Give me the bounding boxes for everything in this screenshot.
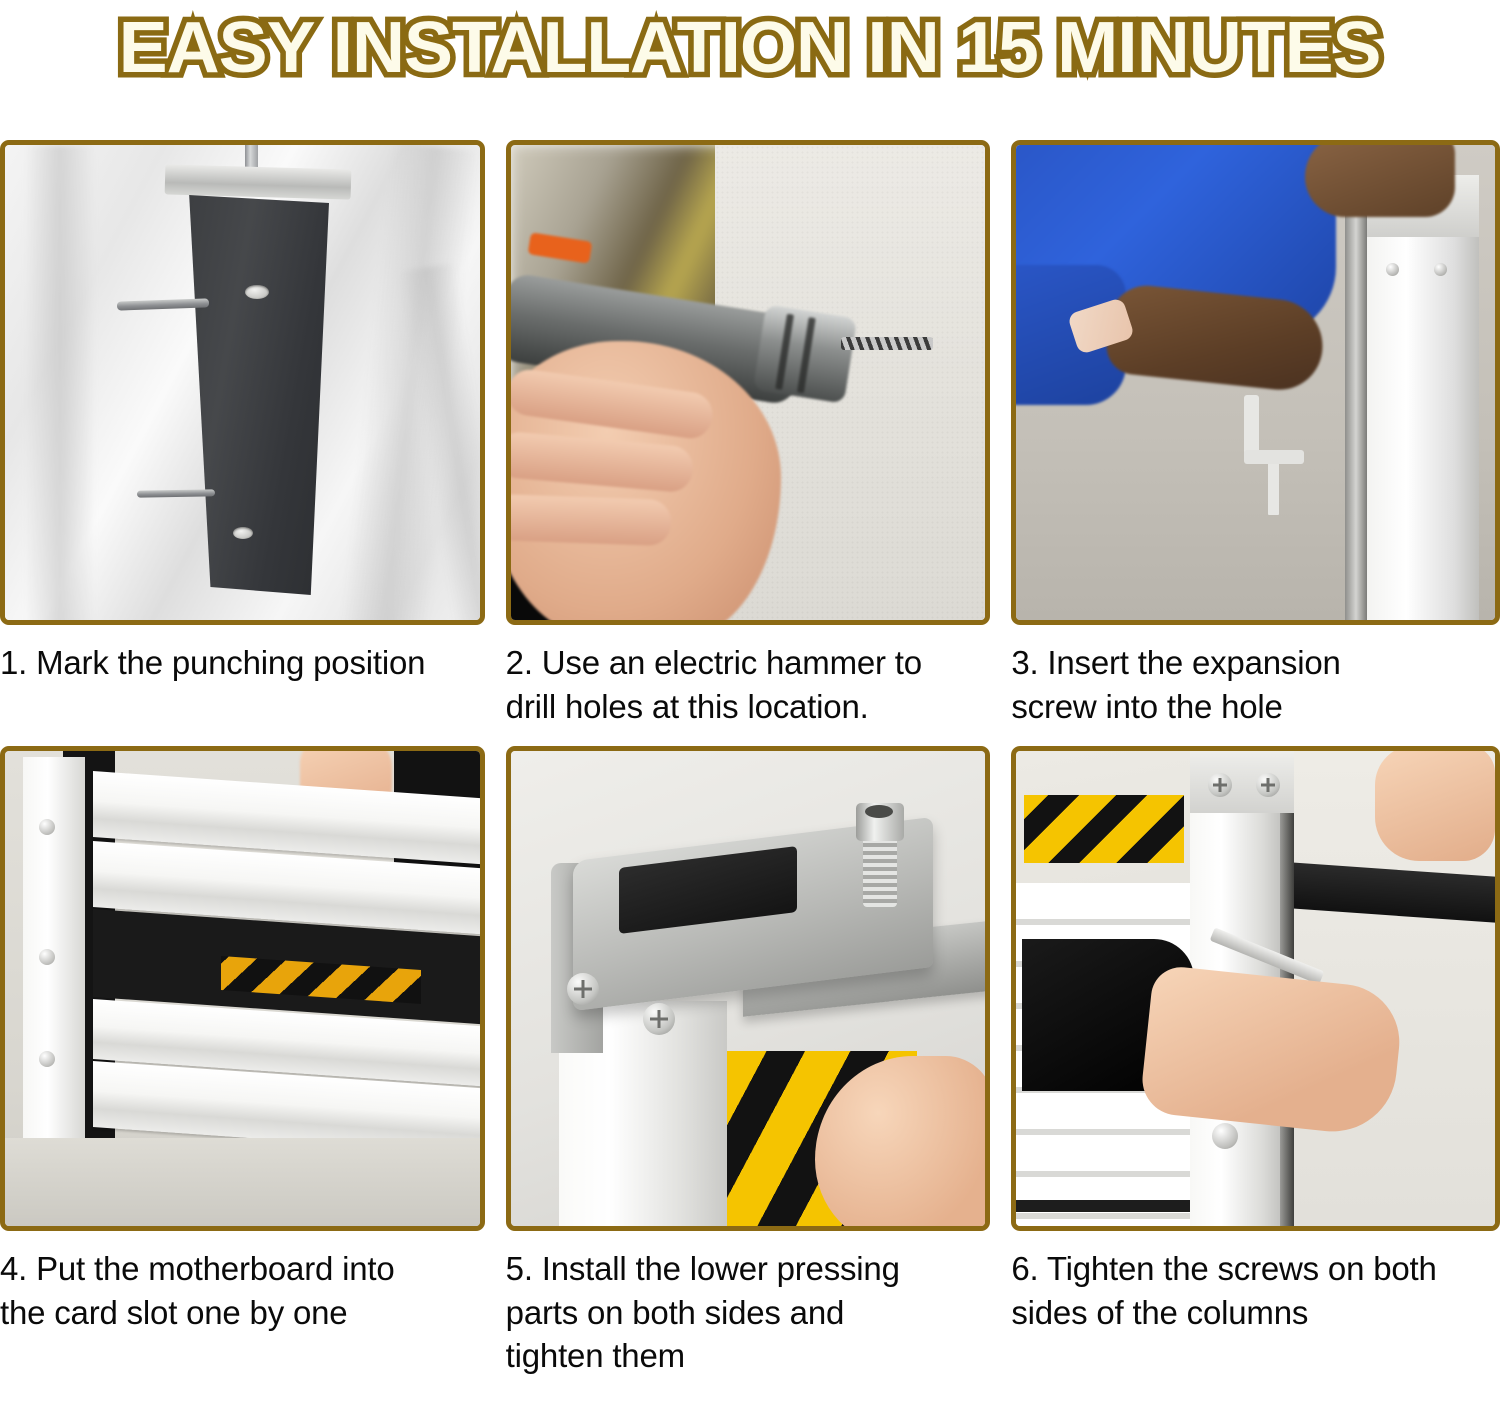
step-card-5: 5. Install the lower pressing parts on b… [506,746,991,1378]
phillips-screw [643,1003,675,1035]
bolt-socket [865,805,893,818]
step-caption-5: 5. Install the lower pressing parts on b… [506,1247,991,1378]
finger [511,494,672,546]
threaded-bolt [863,831,897,907]
bracket-cap [165,164,352,199]
caption-line: 5. Install the lower pressing [506,1247,985,1291]
page-title-bar: EASY INSTALLATION IN 15 MINUTES [0,0,1500,96]
step-photo-frame-6 [1011,746,1500,1231]
screw [39,819,55,835]
caption-line: 6. Tighten the screws on both [1011,1247,1494,1291]
caption-line: 4. Put the motherboard into [0,1247,479,1291]
page-title: EASY INSTALLATION IN 15 MINUTES [119,12,1381,84]
screw [1434,263,1447,276]
caption-line: tighten them [506,1334,985,1378]
white-column [1367,175,1479,620]
bracket-hole [245,285,269,299]
step-caption-3: 3. Insert the expansion screw into the h… [1011,641,1500,728]
step-caption-4: 4. Put the motherboard into the card slo… [0,1247,485,1334]
screw [39,1051,55,1067]
upper-hand [1305,145,1455,217]
finger [511,367,715,441]
hand [1139,964,1405,1138]
hazard-tape [1024,795,1184,863]
step-caption-1: 1. Mark the punching position [0,641,485,685]
floor-shadow-bar [1016,1200,1194,1212]
step-photo-6 [1016,751,1495,1226]
step-photo-frame-5 [506,746,991,1231]
step-card-2: 2. Use an electric hammer to drill holes… [506,140,991,728]
drill-chuck [753,304,857,403]
allen-key [1244,395,1259,457]
caption-line: drill holes at this location. [506,685,985,729]
phillips-screw [567,973,599,1005]
upper-hand [1375,751,1495,861]
caption-line: the card slot one by one [0,1291,479,1335]
caption-line: parts on both sides and [506,1291,985,1335]
step-caption-2: 2. Use an electric hammer to drill holes… [506,641,991,728]
step-photo-frame-3 [1011,140,1500,625]
allen-key-arm [1244,450,1304,464]
screw [1386,263,1399,276]
installation-guide-sheet: EASY INSTALLATION IN 15 MINUTES [0,0,1500,1403]
step-photo-frame-4 [0,746,485,1231]
step-card-1: 1. Mark the punching position [0,140,485,728]
drill-bit [841,337,933,350]
cloth-fold [25,145,95,620]
floor [5,1138,480,1226]
caption-line: 2. Use an electric hammer to [506,641,985,685]
caption-line: 3. Insert the expansion [1011,641,1494,685]
step-photo-4 [5,751,480,1226]
caption-line: screw into the hole [1011,685,1494,729]
column-edge [1345,175,1367,620]
caption-line: sides of the columns [1011,1291,1494,1335]
step-photo-3 [1016,145,1495,620]
step-card-3: 3. Insert the expansion screw into the h… [1011,140,1500,728]
step-card-4: 4. Put the motherboard into the card slo… [0,746,485,1378]
step-photo-5 [511,751,986,1226]
step-card-6: 6. Tighten the screws on both sides of t… [1011,746,1500,1378]
chuck-ring [797,317,816,393]
bracket-hole [233,527,253,539]
steps-row-bottom: 4. Put the motherboard into the card slo… [0,746,1500,1378]
step-caption-6: 6. Tighten the screws on both sides of t… [1011,1247,1500,1334]
step-photo-2 [511,145,986,620]
finger [511,431,695,494]
step-photo-frame-2 [506,140,991,625]
step-photo-1 [5,145,480,620]
chuck-ring [775,314,794,390]
steps-row-top: 1. Mark the punching position [0,140,1500,728]
mounting-pin [137,489,215,497]
screw [39,949,55,965]
white-column [23,757,85,1177]
step-photo-frame-1 [0,140,485,625]
steps-grid: 1. Mark the punching position [0,140,1500,1378]
caption-line: 1. Mark the punching position [0,641,479,685]
